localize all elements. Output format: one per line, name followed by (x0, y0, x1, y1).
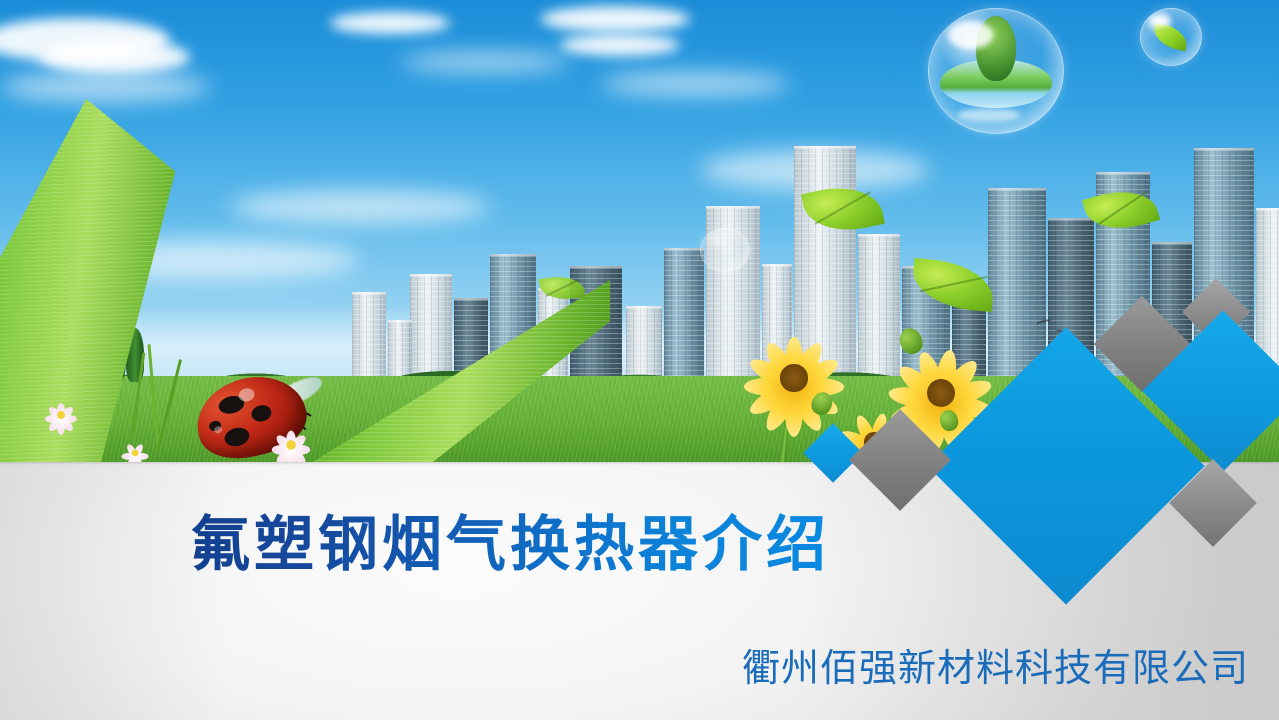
cloud-icon (330, 12, 450, 34)
yellow-flower-icon (836, 404, 912, 462)
white-flower-icon (44, 398, 78, 432)
bubble-highlight (958, 108, 1020, 122)
soap-bubble-with-tree-icon (928, 8, 1064, 134)
grass-field (0, 376, 1279, 462)
cloud-icon (400, 52, 570, 72)
presentation-slide: 氟塑钢烟气换热器介绍 衢州佰强新材料科技有限公司 (0, 0, 1279, 720)
white-flower-icon (121, 439, 150, 462)
flower-center (780, 364, 807, 391)
hero-photo (0, 0, 1279, 462)
cloud-icon (540, 6, 690, 32)
page-title: 氟塑钢烟气换热器介绍 (190, 511, 830, 578)
ladybug-highlight (213, 425, 222, 434)
cloud-icon (560, 34, 680, 56)
panel-top-edge (0, 462, 1279, 465)
soap-bubble-with-leaf-icon (1140, 8, 1202, 66)
soap-bubble-icon (700, 228, 750, 272)
company-name: 衢州佰强新材料科技有限公司 (742, 637, 1249, 692)
ladybug-spot (223, 425, 252, 449)
cloud-icon (600, 72, 790, 96)
yellow-flower-icon (742, 326, 846, 430)
cloud-icon (0, 72, 210, 102)
ladybug-spot (250, 403, 273, 423)
cloud-icon (40, 40, 190, 74)
bubble-highlight (948, 21, 994, 48)
white-flower-icon (271, 425, 312, 462)
bubble-highlight (1149, 15, 1169, 27)
